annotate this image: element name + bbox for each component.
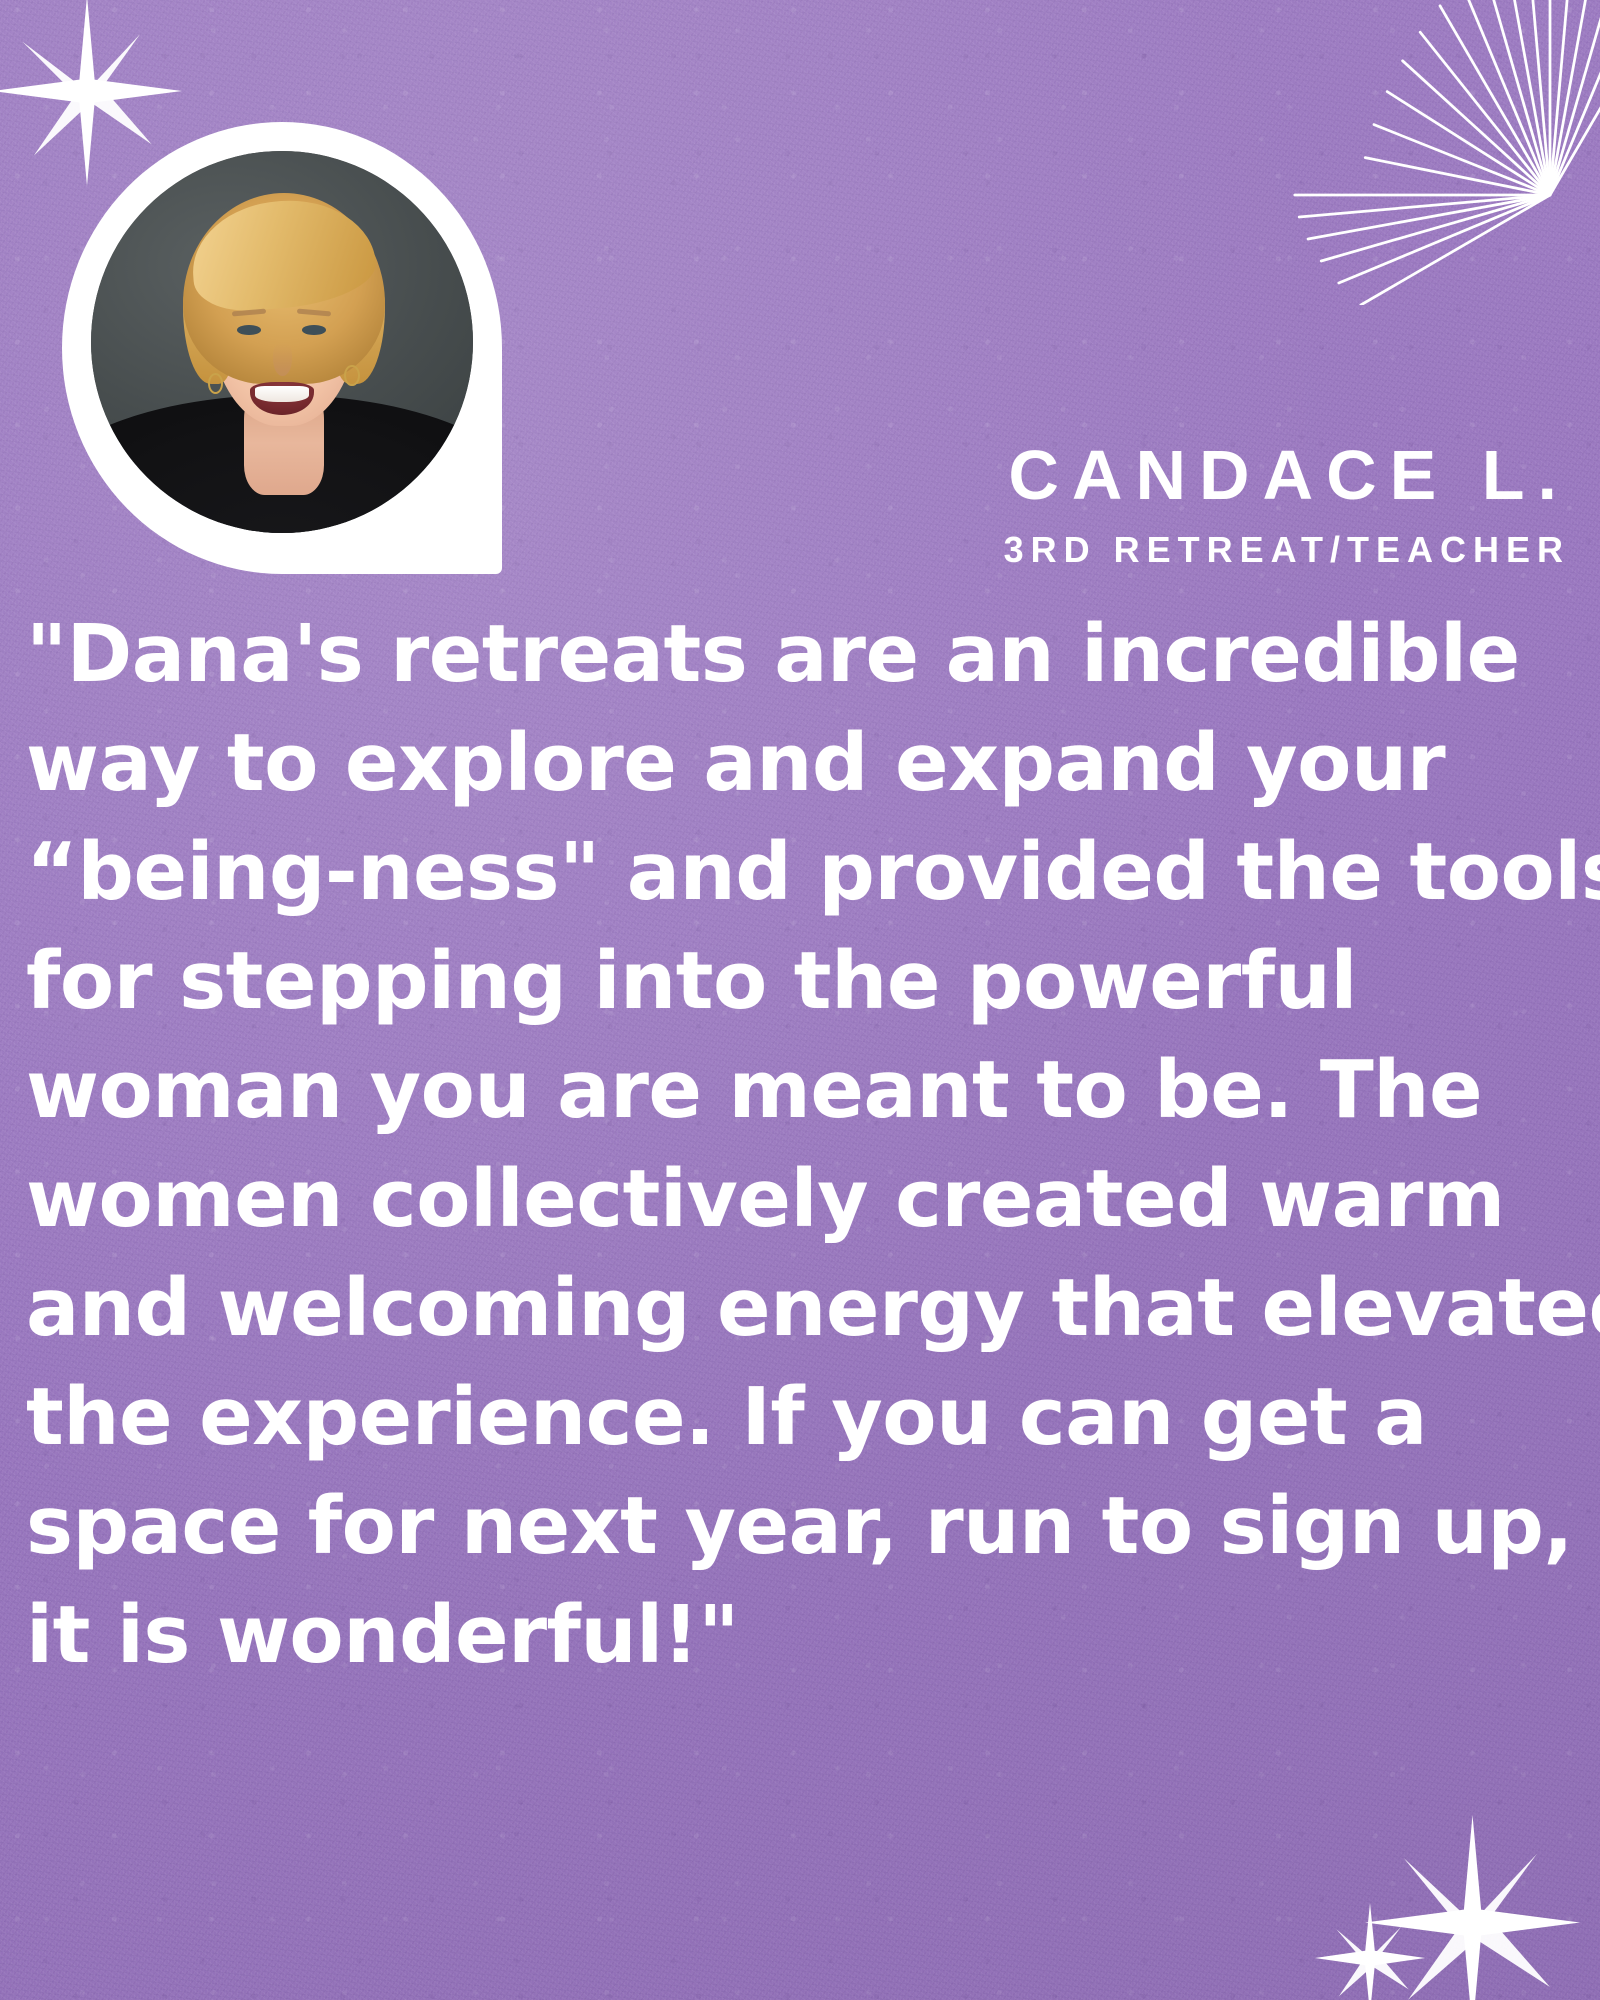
sparkle-star-icon bbox=[1365, 1815, 1580, 2000]
photo-teeth bbox=[255, 386, 308, 402]
sunburst-icon bbox=[1220, 0, 1600, 305]
quote-line: and welcoming energy that elevated bbox=[26, 1254, 1586, 1363]
quote-line: space for next year, run to sign up, bbox=[26, 1472, 1586, 1581]
quote-line: for stepping into the powerful bbox=[26, 927, 1586, 1036]
reviewer-role: 3RD RETREAT/TEACHER bbox=[560, 532, 1570, 568]
quote-line: “being-ness" and provided the tools bbox=[26, 818, 1586, 927]
quote-line: woman you are meant to be. The bbox=[26, 1036, 1586, 1145]
reviewer-name: CANDACE L. bbox=[560, 440, 1570, 510]
quote-line: the experience. If you can get a bbox=[26, 1363, 1586, 1472]
photo-nose bbox=[273, 342, 292, 376]
testimonial-quote: "Dana's retreats are an incredible way t… bbox=[26, 600, 1586, 1690]
avatar bbox=[62, 122, 502, 574]
testimonial-poster: CANDACE L. 3RD RETREAT/TEACHER "Dana's r… bbox=[0, 0, 1600, 2000]
quote-line: women collectively created warm bbox=[26, 1145, 1586, 1254]
quote-line: "Dana's retreats are an incredible bbox=[26, 600, 1586, 709]
avatar-photo bbox=[91, 151, 473, 533]
quote-line: way to explore and expand your bbox=[26, 709, 1586, 818]
identity-block: CANDACE L. 3RD RETREAT/TEACHER bbox=[560, 440, 1570, 568]
sparkle-star-icon bbox=[1310, 1898, 1430, 2000]
quote-line: it is wonderful!" bbox=[26, 1581, 1586, 1690]
